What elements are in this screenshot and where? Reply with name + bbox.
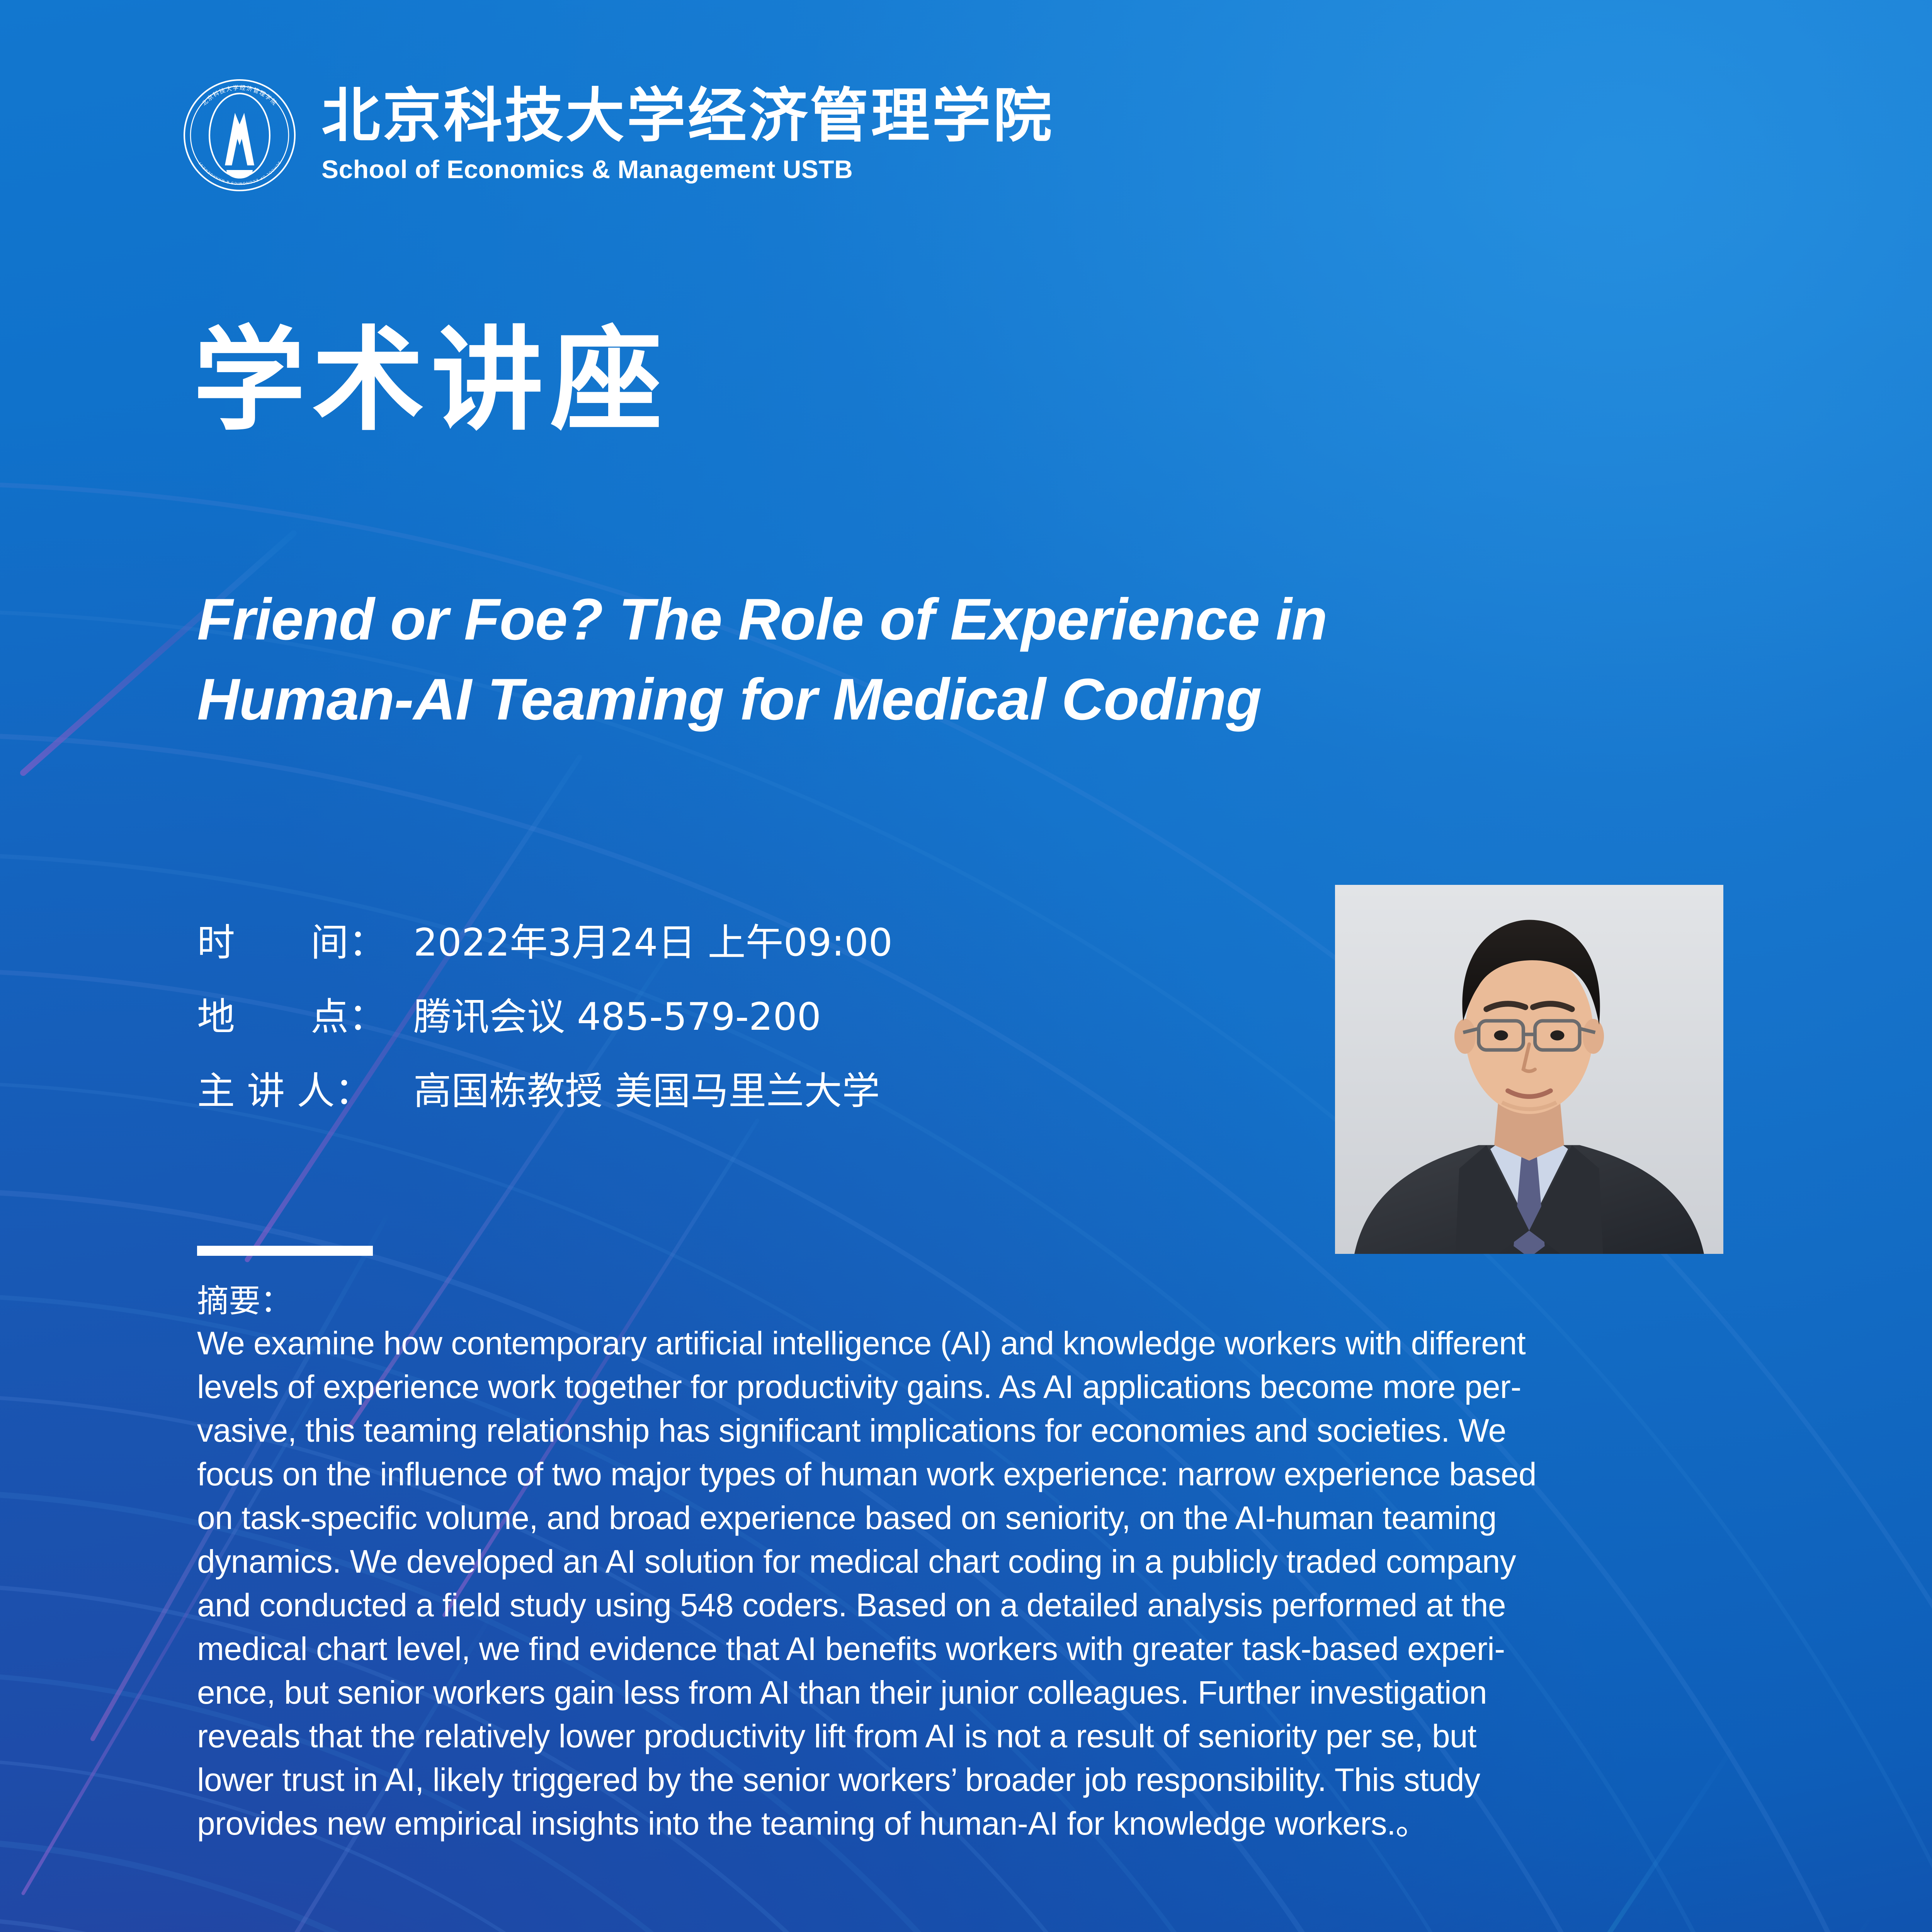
meta-row-speaker: 主 讲 人： 高国栋教授 美国马里兰大学: [197, 1060, 893, 1115]
abstract-heading: 摘要：: [197, 1275, 292, 1321]
abstract-line: dynamics. We developed an AI solution fo…: [197, 1540, 1905, 1583]
abstract-line: and conducted a field study using 548 co…: [197, 1583, 1905, 1627]
poster-title-en: Friend or Foe? The Role of Experience in…: [197, 580, 1897, 739]
lecture-poster: 北京科技大学经济管理学院 SCHOOL OF ECONOMICS & MANAG…: [0, 0, 1932, 1932]
sem-seal-icon: 北京科技大学经济管理学院 SCHOOL OF ECONOMICS & MANAG…: [182, 77, 298, 193]
abstract-line: focus on the influence of two major type…: [197, 1452, 1905, 1496]
school-name-en: School of Economics & Management USTB: [321, 155, 1054, 184]
school-logo: 北京科技大学经济管理学院 SCHOOL OF ECONOMICS & MANAG…: [182, 77, 1054, 193]
speaker-photo: [1335, 885, 1723, 1254]
abstract-line: levels of experience work together for p…: [197, 1365, 1905, 1409]
location-value: 腾讯会议 485-579-200: [413, 986, 821, 1041]
abstract-line: medical chart level, we find evidence th…: [197, 1627, 1905, 1671]
time-label: 时 间：: [197, 912, 413, 967]
speaker-value: 高国栋教授 美国马里兰大学: [413, 1060, 880, 1115]
poster-title-cn: 学术讲座: [193, 325, 669, 437]
school-name-cn: 北京科技大学经济管理学院: [321, 87, 1054, 146]
title-en-line-2: Human-AI Teaming for Medical Coding: [197, 660, 1897, 740]
abstract-line: ence, but senior workers gain less from …: [197, 1671, 1905, 1714]
event-meta: 时 间： 2022年3月24日 上午09:00 地 点： 腾讯会议 485-57…: [197, 912, 893, 1134]
location-label: 地 点：: [197, 986, 413, 1041]
school-logo-text: 北京科技大学经济管理学院 School of Economics & Manag…: [321, 87, 1054, 184]
section-divider: [197, 1246, 373, 1256]
speaker-label: 主 讲 人：: [197, 1060, 413, 1115]
abstract-line: lower trust in AI, likely triggered by t…: [197, 1758, 1905, 1802]
meta-row-location: 地 点： 腾讯会议 485-579-200: [197, 986, 893, 1041]
meta-row-time: 时 间： 2022年3月24日 上午09:00: [197, 912, 893, 967]
abstract-line: vasive, this teaming relationship has si…: [197, 1409, 1905, 1452]
time-value: 2022年3月24日 上午09:00: [413, 912, 893, 967]
abstract-line: on task-specific volume, and broad exper…: [197, 1496, 1905, 1540]
abstract-line: reveals that the relatively lower produc…: [197, 1714, 1905, 1758]
abstract-line: provides new empirical insights into the…: [197, 1802, 1905, 1845]
speaker-portrait: [1335, 885, 1723, 1254]
title-en-line-1: Friend or Foe? The Role of Experience in: [197, 580, 1897, 660]
abstract-line: We examine how contemporary artificial i…: [197, 1321, 1905, 1365]
abstract-body: We examine how contemporary artificial i…: [197, 1321, 1905, 1845]
